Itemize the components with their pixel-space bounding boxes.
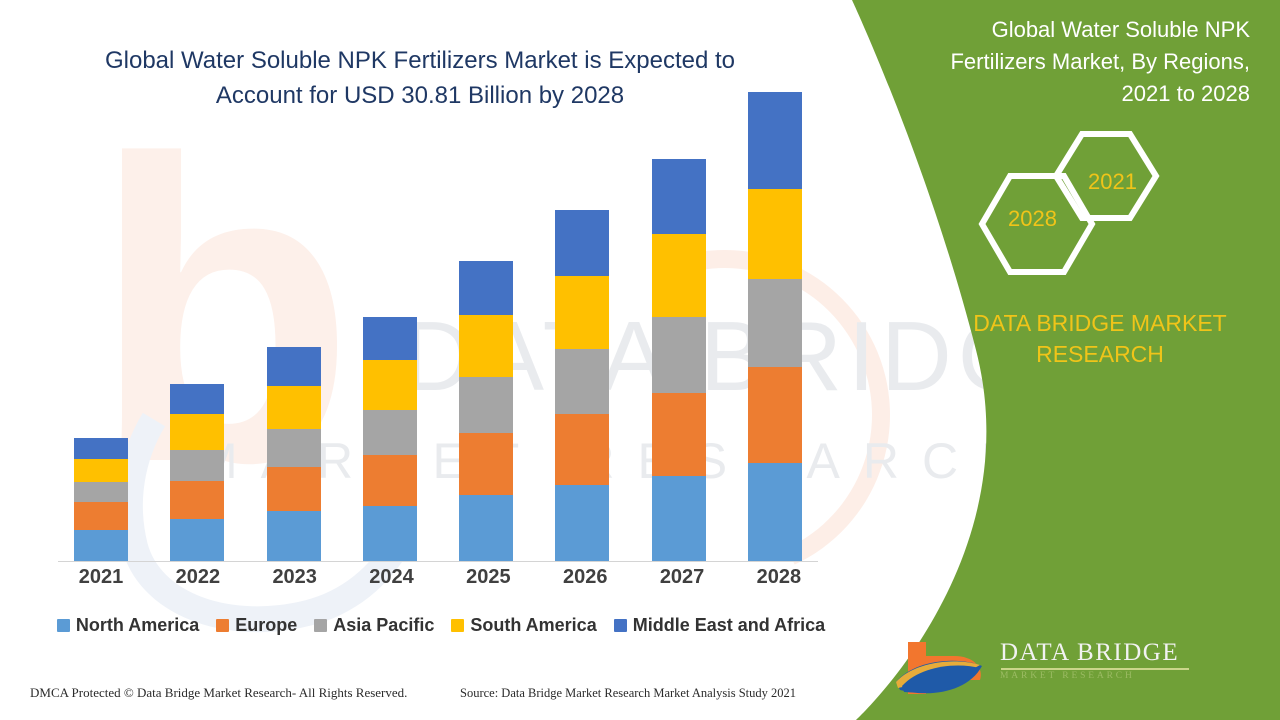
- bar-segment: [459, 261, 513, 315]
- brand-name: DATA BRIDGE MARKET RESEARCH: [950, 308, 1250, 370]
- bar-segment: [459, 377, 513, 433]
- bar-segment: [459, 315, 513, 377]
- hexagon-shapes: [970, 128, 1170, 278]
- x-axis-tick: 2026: [542, 566, 628, 589]
- hexagon-label-end: 2028: [1008, 206, 1057, 232]
- bar-segment: [363, 360, 417, 411]
- page-title: Global Water Soluble NPK Fertilizers Mar…: [60, 44, 780, 114]
- bar-segment: [459, 495, 513, 562]
- bar-segment: [555, 276, 609, 349]
- stacked-bar: [74, 438, 128, 562]
- logo-subtitle: MARKET RESEARCH: [1000, 672, 1189, 682]
- bar-segment: [170, 450, 224, 482]
- chart-baseline: [58, 561, 818, 562]
- x-axis-tick: 2025: [445, 566, 531, 589]
- bar-column: [539, 210, 625, 562]
- bar-segment: [74, 459, 128, 481]
- chart-x-axis: 20212022202320242025202620272028: [58, 566, 822, 589]
- source-note: Source: Data Bridge Market Research Mark…: [460, 686, 796, 701]
- copyright-notice: DMCA Protected © Data Bridge Market Rese…: [30, 685, 407, 701]
- bar-segment: [363, 506, 417, 562]
- data-bridge-logo: DATA BRIDGE MARKET RESEARCH: [892, 636, 1222, 700]
- brand-panel: Global Water Soluble NPK Fertilizers Mar…: [780, 0, 1280, 720]
- legend-item[interactable]: Europe: [216, 615, 297, 636]
- bar-segment: [74, 482, 128, 503]
- legend-item[interactable]: North America: [57, 615, 199, 636]
- bar-segment: [267, 386, 321, 429]
- x-axis-tick: 2023: [252, 566, 338, 589]
- legend-label: Europe: [235, 615, 297, 636]
- bar-segment: [459, 433, 513, 495]
- stacked-bar: [555, 210, 609, 562]
- stacked-bar: [170, 384, 224, 562]
- bar-segment: [267, 467, 321, 512]
- bar-segment: [652, 317, 706, 394]
- legend-swatch: [614, 619, 627, 632]
- bar-column: [636, 159, 722, 562]
- bar-column: [443, 261, 529, 562]
- legend-label: North America: [76, 615, 199, 636]
- legend-swatch: [314, 619, 327, 632]
- bar-segment: [74, 438, 128, 459]
- bar-segment: [363, 455, 417, 506]
- bar-segment: [363, 410, 417, 455]
- legend-item[interactable]: South America: [451, 615, 596, 636]
- stacked-bar: [267, 347, 321, 562]
- legend-swatch: [216, 619, 229, 632]
- legend-label: Asia Pacific: [333, 615, 434, 636]
- logo-title: DATA BRIDGE: [1000, 640, 1189, 666]
- logo-divider: [1001, 668, 1189, 670]
- bar-segment: [555, 414, 609, 485]
- bar-segment: [652, 159, 706, 234]
- x-axis-tick: 2027: [639, 566, 725, 589]
- stacked-bar: [363, 317, 417, 562]
- bar-segment: [267, 347, 321, 386]
- x-axis-tick: 2022: [155, 566, 241, 589]
- legend-swatch: [451, 619, 464, 632]
- bar-segment: [267, 429, 321, 466]
- bar-column: [58, 438, 144, 562]
- logo-wordmark: DATA BRIDGE MARKET RESEARCH: [1000, 640, 1189, 682]
- legend-item[interactable]: Asia Pacific: [314, 615, 434, 636]
- bar-segment: [652, 476, 706, 562]
- chart-plot-area: [58, 150, 818, 562]
- infographic-canvas: b DATA BRIDGE MARKET RESEARCH Global Wat…: [0, 0, 1280, 720]
- year-hexagons: 2021 2028: [970, 128, 1170, 278]
- bar-segment: [267, 511, 321, 562]
- bar-segment: [555, 349, 609, 415]
- bar-column: [251, 347, 337, 562]
- legend-label: South America: [470, 615, 596, 636]
- bar-segment: [555, 485, 609, 562]
- chart-legend: North AmericaEuropeAsia PacificSouth Ame…: [46, 615, 836, 636]
- stacked-bar: [459, 261, 513, 562]
- bar-segment: [170, 481, 224, 518]
- bar-segment: [363, 317, 417, 360]
- bar-segment: [74, 502, 128, 530]
- stacked-bar-chart: [40, 150, 840, 562]
- bar-segment: [652, 393, 706, 475]
- hexagon-label-start: 2021: [1088, 169, 1137, 195]
- legend-swatch: [57, 619, 70, 632]
- panel-title: Global Water Soluble NPK Fertilizers Mar…: [930, 14, 1250, 110]
- bar-segment: [555, 210, 609, 276]
- stacked-bar: [652, 159, 706, 562]
- bar-column: [347, 317, 433, 562]
- bar-column: [154, 384, 240, 562]
- bar-segment: [170, 414, 224, 450]
- bar-segment: [170, 519, 224, 562]
- bar-segment: [652, 234, 706, 316]
- x-axis-tick: 2024: [349, 566, 435, 589]
- bar-segment: [170, 384, 224, 414]
- x-axis-tick: 2021: [58, 566, 144, 589]
- bar-segment: [74, 530, 128, 562]
